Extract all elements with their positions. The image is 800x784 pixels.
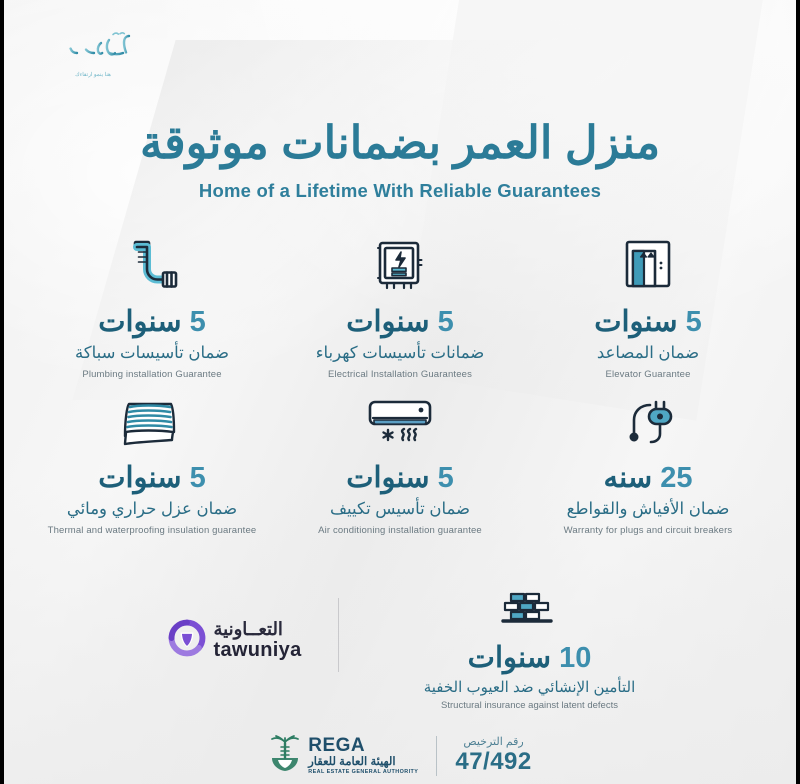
guarantee-years-number: 5 [438, 306, 454, 338]
guarantee-grid: 5 سنوات ضمان تأسيسات سباكة Plumbing inst… [28, 228, 772, 538]
license-label: رقم الترخيص [455, 736, 531, 749]
guarantee-years: 5 سنوات [34, 463, 270, 495]
guarantee-years: 5 سنوات [282, 463, 518, 495]
structural-years-number: 10 [559, 642, 591, 674]
guarantee-label-english: Air conditioning installation guarantee [282, 525, 518, 538]
guarantee-years-number: 5 [190, 306, 206, 338]
structural-years-unit: سنوات [468, 642, 551, 674]
guarantee-label-english: Plumbing installation Guarantee [34, 369, 270, 382]
plumbing-pipe-icon [34, 228, 270, 294]
guarantee-years-number: 5 [686, 306, 702, 338]
electrical-panel-icon [282, 228, 518, 294]
infographic-poster: هنا ينمو ارتقاءك منزل العمر بضمانات موثو… [4, 0, 796, 784]
guarantee-label-arabic: ضمان عزل حراري ومائي [34, 498, 270, 520]
rega-palm-icon [268, 734, 302, 777]
footer-divider [436, 736, 437, 776]
guarantee-label-arabic: ضمانات تأسيسات كهرباء [282, 342, 518, 364]
insulation-waves-icon [34, 388, 270, 450]
guarantee-years-number: 5 [438, 462, 454, 494]
rega-logo: REGA الهيئة العامة للعقار REAL ESTATE GE… [268, 734, 418, 777]
partner-divider [338, 598, 339, 672]
guarantee-label-arabic: ضمان المصاعد [530, 342, 766, 364]
license-number: 47/492 [455, 749, 531, 775]
guarantee-years: 5 سنوات [530, 307, 766, 339]
guarantee-years: 5 سنوات [282, 307, 518, 339]
guarantee-years-unit: سنوات [98, 462, 181, 494]
guarantee-label-arabic: ضمان تأسيس تكييف [282, 498, 518, 520]
guarantee-item-air-conditioning: 5 سنوات ضمان تأسيس تكييف Air conditionin… [276, 388, 524, 538]
guarantee-label-english: Thermal and waterproofing insulation gua… [34, 525, 270, 538]
guarantee-item-plugs: 25 سنه ضمان الأفياش والقواطع Warranty fo… [524, 388, 772, 538]
tawuniya-name-arabic: التعــاونية [214, 620, 302, 639]
structural-years: 10 سنوات [375, 640, 685, 675]
brand-logo: هنا ينمو ارتقاءك [28, 26, 158, 78]
guarantee-years-unit: سنوات [594, 306, 677, 338]
guarantee-years-unit: سنه [604, 462, 653, 494]
elevator-icon [530, 228, 766, 294]
guarantee-label-english: Warranty for plugs and circuit breakers [530, 525, 766, 538]
guarantee-years-number: 5 [190, 462, 206, 494]
license-block: رقم الترخيص 47/492 [455, 736, 531, 776]
guarantee-years: 25 سنه [530, 463, 766, 495]
rega-wordmark: REGA الهيئة العامة للعقار REAL ESTATE GE… [308, 736, 418, 775]
rega-name-arabic: الهيئة العامة للعقار [308, 755, 418, 769]
guarantee-label-english: Electrical Installation Guarantees [282, 369, 518, 382]
page-title-arabic: منزل العمر بضمانات موثوقة [4, 116, 796, 171]
guarantee-item-plumbing: 5 سنوات ضمان تأسيسات سباكة Plumbing inst… [28, 228, 276, 382]
guarantee-item-electrical: 5 سنوات ضمانات تأسيسات كهرباء Electrical… [276, 228, 524, 382]
guarantee-label-english: Elevator Guarantee [530, 369, 766, 382]
page-title-block: منزل العمر بضمانات موثوقة Home of a Life… [4, 116, 796, 202]
guarantee-years-unit: سنوات [346, 462, 429, 494]
guarantee-item-insulation: 5 سنوات ضمان عزل حراري ومائي Thermal and… [28, 388, 276, 538]
guarantee-label-arabic: ضمان تأسيسات سباكة [34, 342, 270, 364]
air-conditioner-icon [282, 388, 518, 450]
guarantee-years: 5 سنوات [34, 307, 270, 339]
rega-abbreviation: REGA [308, 736, 418, 755]
tawuniya-wordmark: التعــاونية tawuniya [214, 620, 302, 661]
structural-label-english: Structural insurance against latent defe… [375, 700, 685, 711]
tawuniya-logo-icon [167, 618, 207, 663]
page-title-english: Home of a Lifetime With Reliable Guarant… [4, 180, 796, 202]
license-footer: REGA الهيئة العامة للعقار REAL ESTATE GE… [4, 734, 796, 777]
guarantee-item-elevator: 5 سنوات ضمان المصاعد Elevator Guarantee [524, 228, 772, 382]
rasaya-wordmark-icon [28, 26, 158, 71]
guarantee-years-unit: سنوات [346, 306, 429, 338]
rega-name-english: REAL ESTATE GENERAL AUTHORITY [308, 769, 418, 775]
tawuniya-name-english: tawuniya [214, 639, 302, 661]
structural-label-arabic: التأمين الإنشائي ضد العيوب الخفية [375, 678, 685, 696]
structural-insurance-item: 10 سنوات التأمين الإنشائي ضد العيوب الخف… [375, 592, 685, 711]
guarantee-years-number: 25 [660, 462, 692, 494]
partner-section: التعــاونية tawuniya [4, 592, 796, 711]
guarantee-years-unit: سنوات [98, 306, 181, 338]
power-plug-icon [530, 388, 766, 450]
tawuniya-logo: التعــاونية tawuniya [116, 592, 302, 663]
guarantee-label-arabic: ضمان الأفياش والقواطع [530, 498, 766, 520]
brick-wall-icon [375, 592, 685, 632]
brand-tagline: هنا ينمو ارتقاءك [28, 72, 158, 78]
